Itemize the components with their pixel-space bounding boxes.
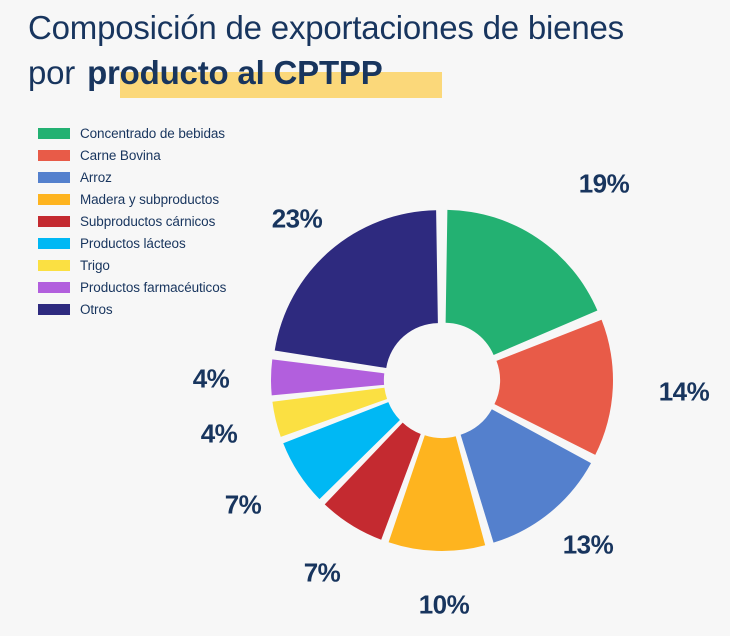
pie-value-label: 13% bbox=[563, 530, 614, 561]
pie-value-label: 7% bbox=[304, 558, 341, 589]
pie-value-label: 23% bbox=[272, 204, 323, 235]
title-line-2-highlight: producto al CPTPP bbox=[84, 54, 385, 91]
pie-value-label: 14% bbox=[659, 377, 710, 408]
pie-value-label: 19% bbox=[579, 169, 630, 200]
chart-page: Composición de exportaciones de bienes p… bbox=[0, 0, 730, 631]
pie-value-label: 4% bbox=[201, 419, 238, 450]
pie-value-label: 10% bbox=[419, 590, 470, 621]
pie-value-label: 7% bbox=[225, 490, 262, 521]
pie-value-label: 4% bbox=[193, 364, 230, 395]
